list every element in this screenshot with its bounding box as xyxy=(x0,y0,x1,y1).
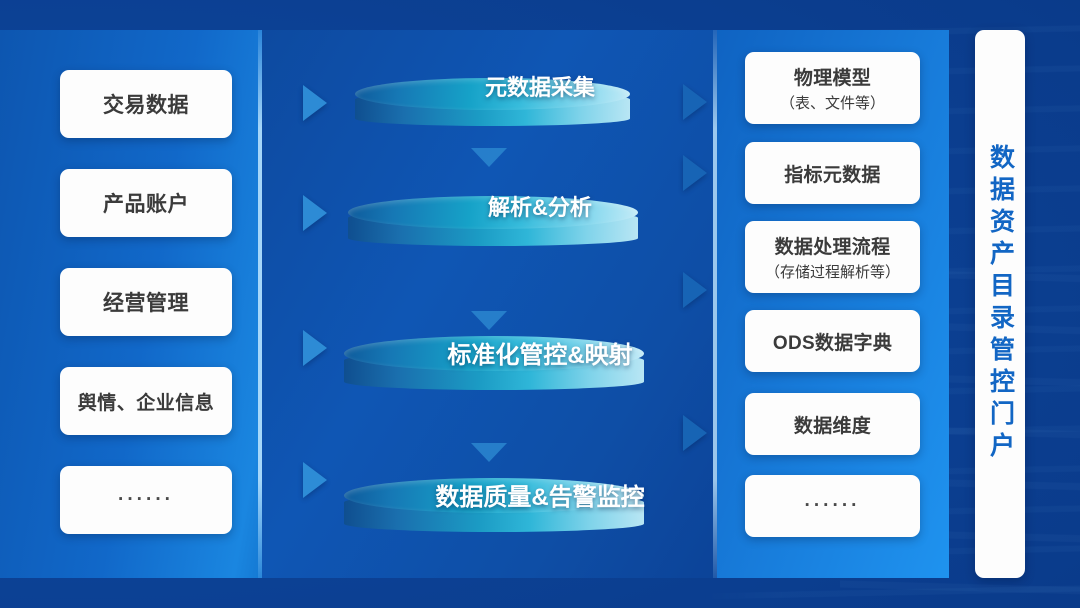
output-card-label: ODS数据字典 xyxy=(773,328,892,355)
flow-arrow-icon xyxy=(683,272,707,308)
output-card-sublabel: （表、文件等） xyxy=(780,92,885,113)
output-card-label: 物理模型 xyxy=(794,63,871,90)
output-card-label: 指标元数据 xyxy=(784,160,881,187)
output-card[interactable]: ODS数据字典 xyxy=(745,310,920,372)
source-card[interactable]: 经营管理 xyxy=(60,268,232,336)
output-card-label: ······ xyxy=(805,495,861,517)
source-card[interactable]: 舆情、企业信息 xyxy=(60,367,232,435)
portal-bar[interactable]: 数据资产目录管控门户 xyxy=(975,30,1025,578)
output-card[interactable]: ······ xyxy=(745,475,920,537)
diagram-canvas: 交易数据 产品账户 经营管理 舆情、企业信息 ······ 元数据采集 解析&分… xyxy=(0,0,1080,608)
output-card[interactable]: 数据维度 xyxy=(745,393,920,455)
flow-arrow-icon xyxy=(683,415,707,451)
flow-arrow-icon xyxy=(683,84,707,120)
chevron-down-icon xyxy=(471,148,507,167)
flow-arrow-icon xyxy=(683,155,707,191)
output-card[interactable]: 物理模型 （表、文件等） xyxy=(745,52,920,124)
output-card[interactable]: 数据处理流程 （存储过程解析等） xyxy=(745,221,920,293)
output-card-label: 数据处理流程 xyxy=(775,232,891,259)
portal-bar-label: 数据资产目录管控门户 xyxy=(988,144,1013,464)
output-card[interactable]: 指标元数据 xyxy=(745,142,920,204)
chevron-down-icon xyxy=(471,311,507,330)
output-card-sublabel: （存储过程解析等） xyxy=(765,261,900,282)
source-card-label: 经营管理 xyxy=(103,287,189,317)
source-card-label: 舆情、企业信息 xyxy=(78,388,215,415)
output-card-label: 数据维度 xyxy=(794,411,871,438)
chevron-down-icon xyxy=(471,443,507,462)
